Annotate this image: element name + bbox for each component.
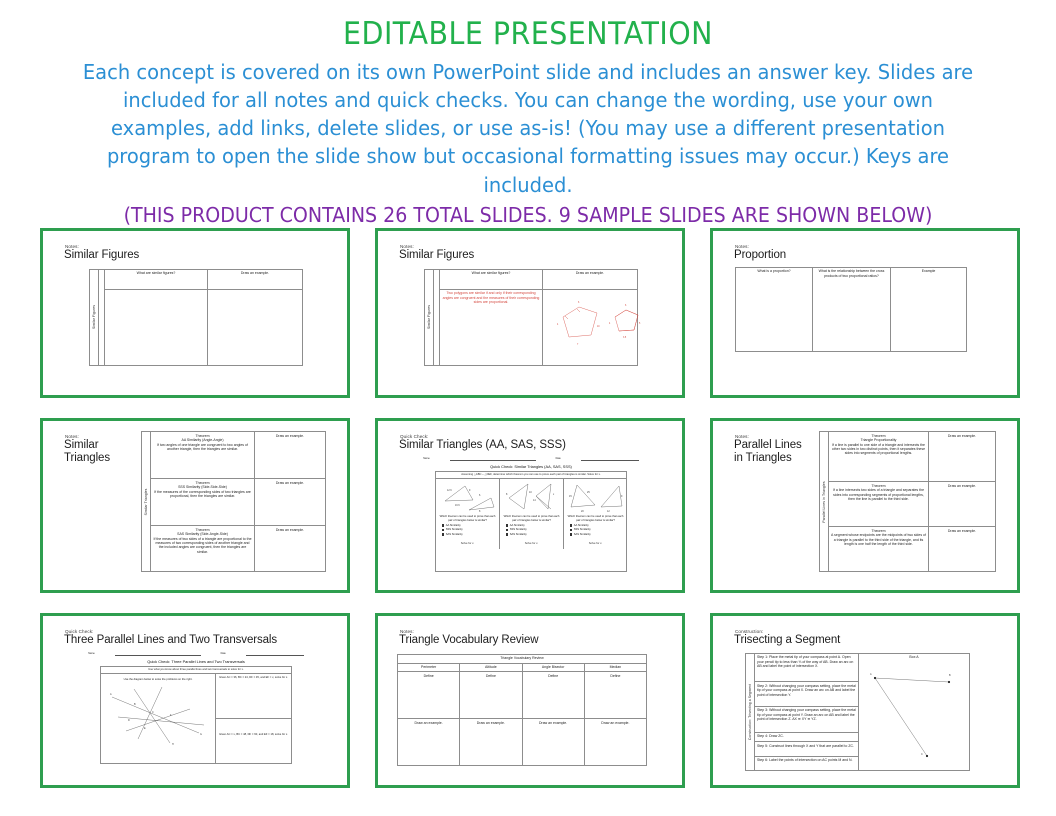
checkbox-icon[interactable]	[506, 529, 509, 532]
slide-thumbnail-grid: Notes: Similar Figures Similar Figures W…	[40, 228, 1016, 788]
answer-prompt: Solve for x.	[439, 542, 497, 546]
column-header-2: Draw an example.	[208, 269, 303, 289]
draw-cell-3: Draw an example.	[255, 526, 326, 572]
problem-2: Given AC = x, BC = 48, DF = 60, and EF =…	[216, 719, 291, 764]
triangle-pair-figure-3: 15 20 25 12 9	[567, 481, 625, 513]
similar-pentagons-figure: 4 6 10 7 6 4 5 3.5	[545, 291, 645, 361]
theorem-cell-2: Theorem If a line intersects two sides o…	[829, 482, 929, 527]
date-rule[interactable]	[581, 457, 639, 461]
define-cell: Define	[522, 672, 584, 719]
svg-text:F: F	[170, 714, 172, 717]
worksheet-instruction: Assuming △ABC ~ △DEF, determine which th…	[436, 472, 626, 480]
svg-text:14: 14	[533, 499, 536, 502]
slide-headline: Proportion	[734, 249, 1009, 262]
options-list: AA Similarity SSS Similarity SAS Similar…	[442, 524, 497, 536]
svg-text:9: 9	[469, 489, 471, 492]
notes-table: What is a proportion? What is the relati…	[735, 267, 967, 352]
svg-text:16 ft: 16 ft	[455, 504, 460, 507]
column-header: Perimeter	[398, 663, 460, 672]
draw-cell: Draw an example.	[584, 719, 646, 766]
worksheet-instruction: Use what you know about three parallel l…	[101, 667, 291, 675]
slide-headline: Trisecting a Segment	[734, 634, 1009, 647]
option-item[interactable]: AA Similarity	[506, 524, 561, 528]
step-cell-2: Step 2: Without changing your compass se…	[755, 682, 859, 706]
theorem-cell-1: Theorem Triangle Proportionality If a li…	[829, 432, 929, 482]
name-date-row: Name Date	[53, 652, 339, 656]
option-item[interactable]: SAS Similarity	[506, 533, 561, 537]
options-list: AA Similarity SSS Similarity SAS Similar…	[506, 524, 561, 536]
slide-thumbnail-7[interactable]: Quick Check: Three Parallel Lines and Tw…	[40, 613, 350, 788]
checkbox-icon[interactable]	[442, 533, 445, 536]
checkbox-icon[interactable]	[442, 529, 445, 532]
theorem-cell-3: Theorem SAS Similarity (Side-Angle-Side)…	[151, 526, 255, 572]
row-label-cell: Construction: Trisecting a Segment	[746, 653, 755, 770]
answer-cell	[105, 289, 208, 365]
worksheet-frame: Assuming △ABC ~ △DEF, determine which th…	[435, 471, 627, 572]
draw-cell-1: Draw an example.	[929, 432, 996, 482]
step-cell-3: Step 3: Without changing your compass se…	[755, 706, 859, 732]
svg-text:25: 25	[587, 491, 590, 494]
svg-text:12 ft: 12 ft	[447, 489, 452, 492]
name-label: Name	[423, 457, 429, 461]
draw-cell-1: Draw an example.	[255, 432, 326, 479]
column-header: Altitude	[460, 663, 522, 672]
row-label-cell: Parallel Lines in Triangles	[820, 432, 829, 572]
option-item[interactable]: AA Similarity	[570, 524, 625, 528]
svg-text:5: 5	[639, 323, 641, 325]
draw-cell: Draw an example.	[460, 719, 522, 766]
problem-columns: 12 ft 9 16 ft 6 8 Which theorem can be u…	[436, 479, 626, 548]
svg-text:E: E	[144, 727, 146, 730]
slide-headline: Similar Figures	[64, 249, 339, 262]
question-text: Which theorem can be used to prove that …	[439, 515, 497, 522]
date-label: Date	[221, 652, 226, 656]
svg-text:A: A	[870, 673, 872, 676]
theorem-text: If the measures of two sides of a triang…	[153, 537, 252, 555]
step-cell-4: Step 4: Draw ZC.	[755, 732, 859, 741]
notes-table: Similar Figures What are similar figures…	[424, 269, 638, 366]
step-cell-5: Step 5: Construct lines through X and Y …	[755, 742, 859, 756]
vocabulary-table: Triangle Vocabulary Review Perimeter Alt…	[397, 654, 647, 766]
row-label-cell: Similar Figures	[90, 269, 99, 365]
checkbox-icon[interactable]	[442, 524, 445, 527]
draw-cell: Draw an example.	[398, 719, 460, 766]
slide-thumbnail-9[interactable]: Construction: Trisecting a Segment Const…	[710, 613, 1020, 788]
problem-panel-2: 8 10 14 x Which theorem can be used to p…	[500, 479, 564, 548]
column-header-1: What is a proportion?	[736, 267, 813, 351]
options-list: AA Similarity SSS Similarity SAS Similar…	[570, 524, 625, 536]
svg-text:C: C	[921, 753, 923, 756]
svg-text:4: 4	[557, 324, 559, 326]
step-cell-1: Step 1: Place the metal tip of your comp…	[755, 653, 859, 682]
problem-columns: Use the diagram below to solve the probl…	[101, 674, 291, 764]
svg-text:6: 6	[625, 305, 627, 307]
problem-panel-1: 12 ft 9 16 ft 6 8 Which theorem can be u…	[436, 479, 500, 548]
answer-prompt: Solve for x.	[503, 542, 561, 546]
svg-text:A: A	[110, 693, 112, 696]
column-header: Median	[584, 663, 646, 672]
option-item[interactable]: SAS Similarity	[570, 533, 625, 537]
slide-headline: Three Parallel Lines and Two Transversal…	[64, 634, 339, 647]
slide-headline: Similar Triangles (AA, SAS, SSS)	[399, 439, 674, 452]
draw-cell-2: Draw an example.	[255, 479, 326, 526]
worksheet-frame: Use what you know about three parallel l…	[100, 666, 292, 764]
svg-text:6: 6	[578, 302, 580, 304]
column-header-1: What are similar figures?	[440, 269, 543, 289]
name-rule[interactable]	[115, 652, 201, 656]
table-title: Triangle Vocabulary Review	[398, 654, 647, 663]
option-item[interactable]: SSS Similarity	[570, 528, 625, 532]
construction-table: Construction: Trisecting a Segment Step …	[745, 653, 970, 771]
name-label: Name	[88, 652, 94, 656]
svg-text:9: 9	[621, 495, 623, 498]
example-cell: 4 6 10 7 6 4 5 3.5	[543, 289, 638, 365]
option-item[interactable]: SAS Similarity	[442, 533, 497, 537]
checkbox-icon[interactable]	[570, 533, 573, 536]
svg-text:D: D	[128, 719, 130, 722]
figure-cell: Box A A B C	[859, 653, 970, 770]
svg-text:20: 20	[581, 510, 584, 513]
slide-thumbnail-6[interactable]: Notes: Parallel Lines in Triangles Paral…	[710, 418, 1020, 593]
page-title: EDITABLE PRESENTATION	[68, 18, 988, 51]
problem-panel-3: 15 20 25 12 9 Which theorem can be used …	[564, 479, 627, 548]
column-header-1: What are similar figures?	[105, 269, 208, 289]
worksheet-title: Quick Check: Similar Triangles (AA, SAS,…	[388, 464, 674, 469]
header-slide-count-note: (THIS PRODUCT CONTAINS 26 TOTAL SLIDES. …	[53, 203, 1003, 227]
theorem-text: A segment whose endpoints are the midpoi…	[831, 533, 926, 546]
option-item[interactable]: SSS Similarity	[506, 528, 561, 532]
theorem-text: If the measures of the corresponding sid…	[153, 490, 252, 499]
svg-text:G: G	[200, 733, 202, 736]
checkbox-icon[interactable]	[506, 524, 509, 527]
theorem-text: If a line intersects two sides of a tria…	[831, 488, 926, 501]
column-header-3: Example	[891, 267, 967, 351]
svg-text:10: 10	[529, 491, 532, 494]
svg-text:B: B	[949, 674, 951, 677]
svg-text:10: 10	[597, 326, 600, 328]
date-rule[interactable]	[246, 652, 304, 656]
answer-cell: Two polygons are similar if and only if …	[440, 289, 543, 365]
slide-thumbnail-4[interactable]: Notes: Similar Triangles Similar Triangl…	[40, 418, 350, 593]
worksheet-title: Quick Check: Three Parallel Lines and Tw…	[53, 659, 339, 664]
theorem-cell-1: Theorem AA Similarity (Angle-Angle) If t…	[151, 432, 255, 479]
checkbox-icon[interactable]	[506, 533, 509, 536]
svg-text:8: 8	[506, 493, 508, 496]
option-item[interactable]: SSS Similarity	[442, 528, 497, 532]
theorem-table: Parallel Lines in Triangles Theorem Tria…	[819, 431, 996, 572]
question-text: Which theorem can be used to prove that …	[503, 515, 561, 522]
triangle-pair-figure-2: 8 10 14 x	[503, 481, 561, 513]
define-cell: Define	[584, 672, 646, 719]
slide-thumbnail-8[interactable]: Notes: Triangle Vocabulary Review Triang…	[375, 613, 685, 788]
draw-cell-2: Draw an example.	[929, 482, 996, 527]
svg-text:C: C	[152, 711, 154, 714]
question-text: Which theorem can be used to prove that …	[567, 515, 625, 522]
checkbox-icon[interactable]	[570, 529, 573, 532]
define-cell: Define	[460, 672, 522, 719]
date-label: Date	[556, 457, 561, 461]
slide-thumbnail-5[interactable]: Quick Check: Similar Triangles (AA, SAS,…	[375, 418, 685, 593]
step-cell-6: Step 6: Label the points of intersection…	[755, 756, 859, 770]
header: EDITABLE PRESENTATION Each concept is co…	[0, 0, 1056, 227]
slide-thumbnail-1[interactable]: Notes: Similar Figures Similar Figures W…	[40, 228, 350, 398]
problems-panel: Given AC = 36, BC = 24, DF = 45, and EF …	[216, 674, 291, 764]
triangle-pair-figure-1: 12 ft 9 16 ft 6 8	[439, 481, 497, 513]
example-cell	[208, 289, 303, 365]
svg-text:x: x	[553, 493, 555, 496]
theorem-table: Similar Triangles Theorem AA Similarity …	[141, 431, 326, 572]
theorem-text: If a line is parallel to one side of a t…	[831, 443, 926, 456]
diagram-panel: Use the diagram below to solve the probl…	[101, 674, 216, 764]
problem-1: Given AC = 36, BC = 24, DF = 45, and EF …	[216, 674, 291, 719]
theorem-cell-2: Theorem SSS Similarity (Side-Side-Side) …	[151, 479, 255, 526]
slide-headline: Triangle Vocabulary Review	[399, 634, 674, 647]
theorem-text: If two angles of one triangle are congru…	[153, 443, 252, 452]
define-cell: Define	[398, 672, 460, 719]
svg-text:15: 15	[569, 495, 572, 498]
slide-headline: Similar Figures	[399, 249, 674, 262]
draw-cell: Draw an example.	[522, 719, 584, 766]
trisecting-segment-figure: A B C	[861, 660, 961, 764]
slide-thumbnail-3[interactable]: Notes: Proportion What is a proportion? …	[710, 228, 1020, 398]
theorem-cell-3: Theorem A segment whose endpoints are th…	[829, 527, 929, 572]
row-label-cell: Similar Triangles	[142, 432, 151, 572]
header-description: Each concept is covered on its own Power…	[53, 58, 1003, 199]
column-header-2: Draw an example.	[543, 269, 638, 289]
column-header-2: What is the relationship between the cro…	[813, 267, 891, 351]
notes-table: Similar Figures What are similar figures…	[89, 269, 303, 366]
svg-text:H: H	[172, 743, 174, 746]
svg-text:4: 4	[609, 323, 611, 325]
row-label-cell: Similar Figures	[425, 269, 434, 365]
left-instruction: Use the diagram below to solve the probl…	[104, 678, 213, 682]
svg-text:B: B	[134, 703, 136, 706]
svg-text:12: 12	[607, 510, 610, 513]
svg-text:8: 8	[479, 510, 481, 513]
checkbox-icon[interactable]	[570, 524, 573, 527]
name-date-row: Name Date	[388, 457, 674, 461]
draw-cell-3: Draw an example.	[929, 527, 996, 572]
option-item[interactable]: AA Similarity	[442, 524, 497, 528]
transversals-diagram: A B C D E F G H	[104, 683, 214, 747]
column-header: Angle Bisector	[522, 663, 584, 672]
svg-text:6: 6	[479, 494, 481, 497]
slide-thumbnail-2[interactable]: Notes: Similar Figures Similar Figures W…	[375, 228, 685, 398]
svg-text:3.5: 3.5	[623, 337, 627, 339]
answer-prompt: Solve for x.	[567, 542, 625, 546]
name-rule[interactable]	[450, 457, 536, 461]
svg-text:7: 7	[577, 344, 579, 346]
